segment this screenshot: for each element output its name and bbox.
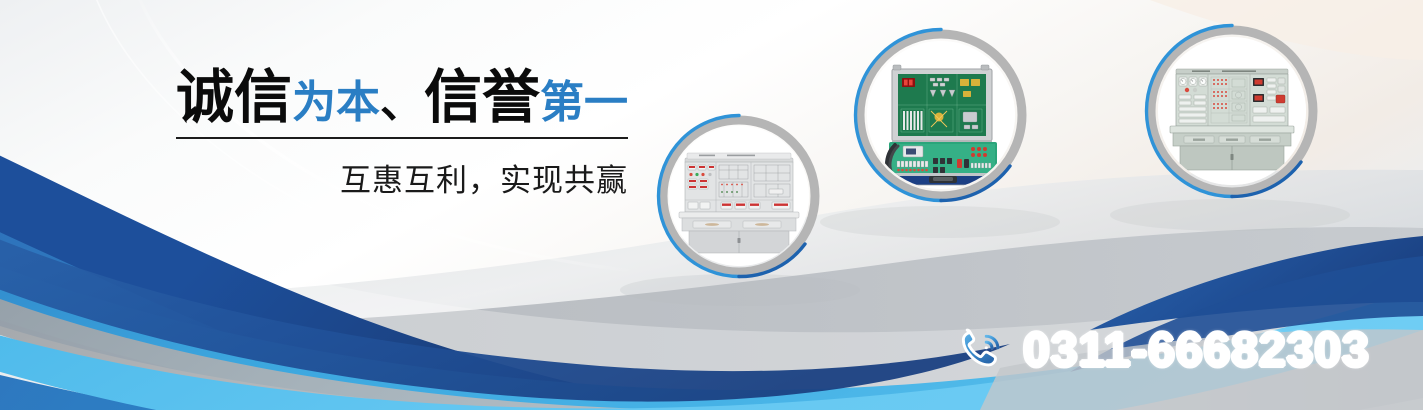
- product-circle-3[interactable]: [1143, 22, 1321, 200]
- title-divider: [176, 137, 628, 139]
- page-title: 诚信为本、信誉第一: [176, 68, 628, 127]
- promo-banner: 诚信为本、信誉第一 互惠互利，实现共赢: [0, 0, 1423, 410]
- subtitle: 互惠互利，实现共赢: [176, 155, 628, 200]
- headline-part2: 为本: [292, 78, 380, 127]
- phone-number-text: 0311-66682303: [1023, 327, 1370, 375]
- headline-part4: 第一: [540, 78, 628, 127]
- headline-part3: 信誉: [424, 65, 540, 130]
- product-circle-2[interactable]: [852, 26, 1030, 204]
- product-circle-1[interactable]: [655, 112, 823, 280]
- product-circle-3-ring: [1143, 22, 1321, 200]
- product-circle-1-ring: [655, 112, 823, 280]
- headline-part1: 诚信: [176, 65, 292, 130]
- contact-phone[interactable]: 0311-66682303: [955, 324, 1370, 378]
- headline-punct: 、: [380, 78, 424, 127]
- headline-block: 诚信为本、信誉第一 互惠互利，实现共赢: [176, 68, 628, 200]
- phone-call-icon: [955, 324, 1009, 378]
- product-circle-2-ring: [852, 26, 1030, 204]
